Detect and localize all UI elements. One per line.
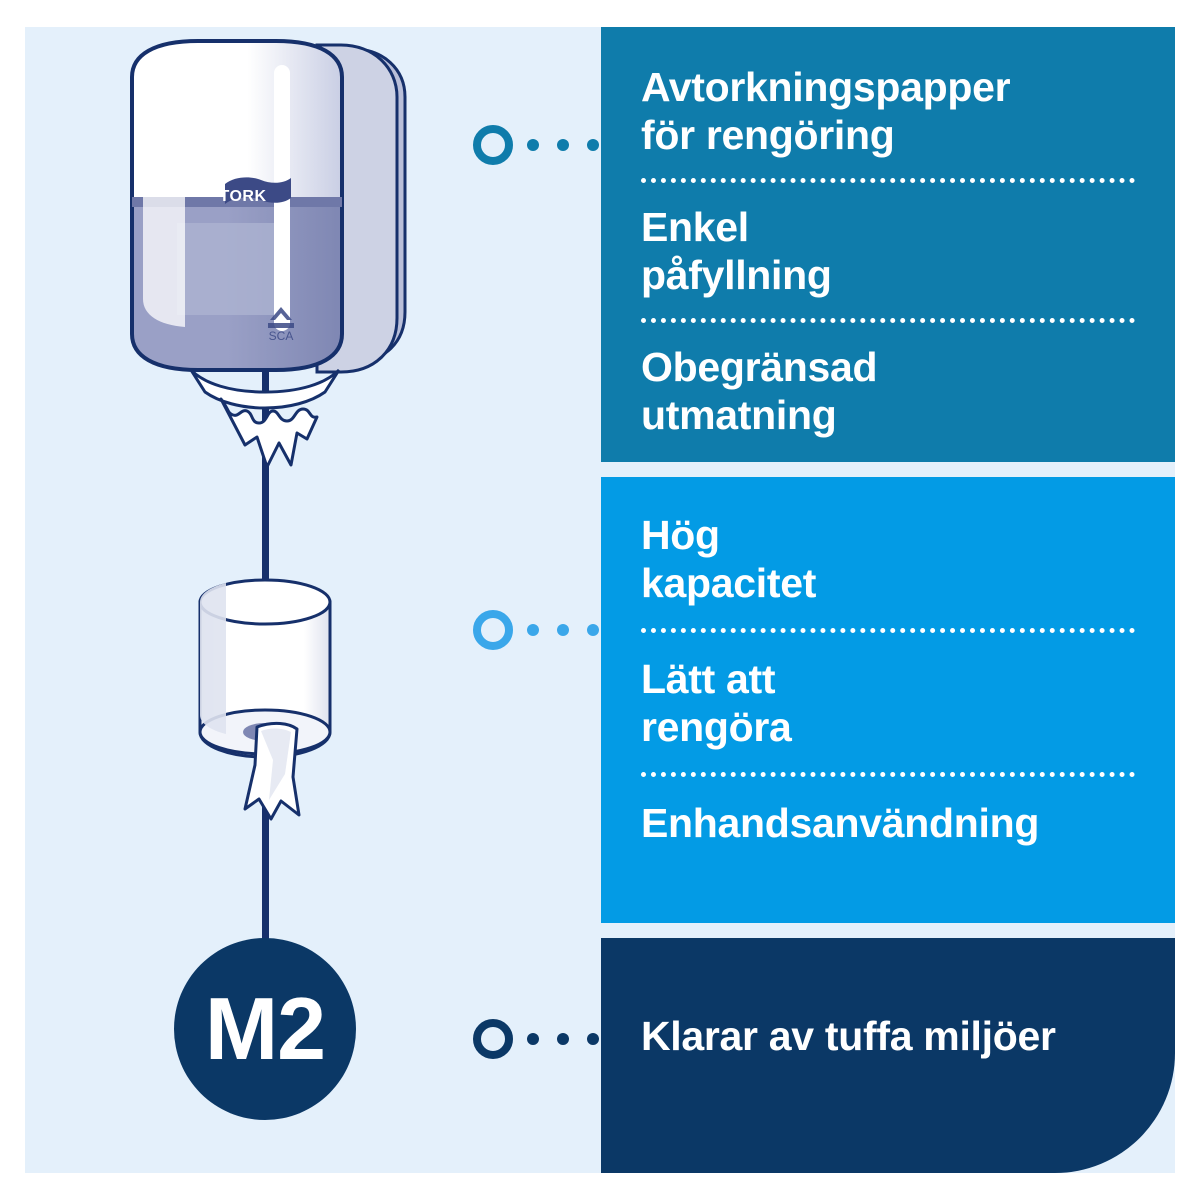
feature-panel-primary: Avtorkningspapper för rengöring Enkel på… <box>601 27 1175 462</box>
feature-divider <box>641 318 1135 323</box>
feature-divider <box>641 772 1135 777</box>
feature-text: Hög kapacitet <box>641 511 1135 608</box>
feature-text: Avtorkningspapper för rengöring <box>641 63 1135 160</box>
tork-dispenser-illustration: TORK SCA <box>132 41 405 467</box>
connector-ring-icon <box>473 125 513 165</box>
feature-text: Enhandsanvändning <box>641 799 1135 847</box>
feature-panel-tertiary: Klarar av tuffa miljöer <box>601 938 1175 1173</box>
paper-roll-illustration <box>200 580 330 819</box>
system-badge-label: M2 <box>205 985 325 1073</box>
connector-ring-icon <box>473 1019 513 1059</box>
feature-text: Lätt att rengöra <box>641 655 1135 752</box>
feature-divider <box>641 628 1135 633</box>
feature-panel-secondary: Hög kapacitet Lätt att rengöra Enhandsan… <box>601 477 1175 923</box>
svg-text:SCA: SCA <box>269 329 294 343</box>
svg-text:TORK: TORK <box>219 188 266 205</box>
connector-ring-icon <box>473 610 513 650</box>
feature-text: Enkel påfyllning <box>641 203 1135 300</box>
feature-divider <box>641 178 1135 183</box>
feature-text: Obegränsad utmatning <box>641 343 1135 440</box>
system-badge-m2: M2 <box>174 938 356 1120</box>
feature-text: Klarar av tuffa miljöer <box>641 1012 1135 1060</box>
infographic-stage: TORK SCA <box>0 0 1200 1200</box>
